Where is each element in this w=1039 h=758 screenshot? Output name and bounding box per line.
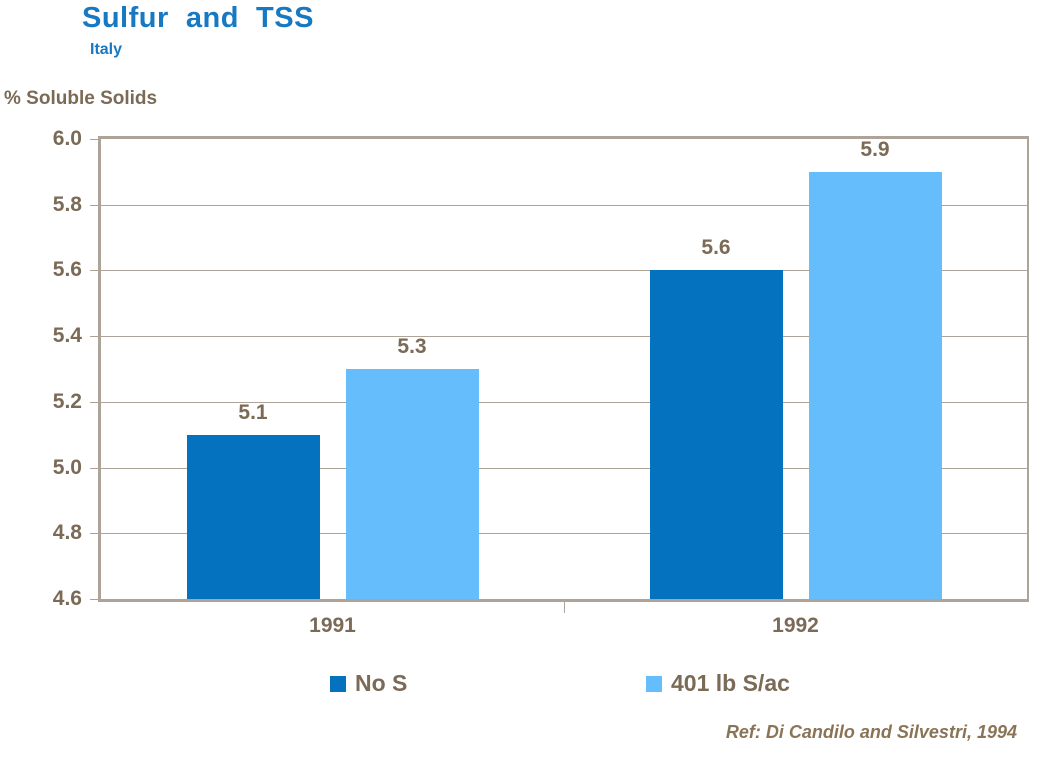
chart-subtitle: Italy	[90, 41, 122, 59]
y-axis-tick-label: 5.4	[12, 324, 82, 348]
x-axis-category-label: 1992	[772, 614, 819, 638]
y-axis-tick-mark	[90, 270, 98, 271]
legend-label-401-lb-s-ac: 401 lb S/ac	[671, 672, 790, 695]
bar-value-label: 5.9	[860, 138, 889, 162]
y-axis-tick-mark	[90, 402, 98, 403]
y-axis-tick-mark	[90, 205, 98, 206]
chart-title: Sulfur and TSS	[82, 2, 314, 35]
bar-value-label: 5.6	[701, 236, 730, 260]
bar[interactable]	[650, 270, 783, 599]
y-axis-tick-label: 5.0	[12, 456, 82, 480]
plot-area	[98, 136, 1029, 602]
x-axis-category-label: 1991	[309, 614, 356, 638]
y-axis-tick-label: 6.0	[12, 127, 82, 151]
y-axis-tick-label: 4.8	[12, 521, 82, 545]
legend-swatch-401-lb-s-ac	[646, 676, 662, 692]
y-axis-tick-label: 4.6	[12, 587, 82, 611]
reference-note: Ref: Di Candilo and Silvestri, 1994	[726, 722, 1017, 743]
legend-swatch-no-s	[330, 676, 346, 692]
y-axis-tick-label: 5.6	[12, 258, 82, 282]
y-axis-tick-label: 5.2	[12, 390, 82, 414]
y-axis-tick-mark	[90, 468, 98, 469]
y-axis-tick-label: 5.8	[12, 193, 82, 217]
legend-item-401-lb-s-ac[interactable]: 401 lb S/ac	[646, 672, 790, 695]
plot-inner	[101, 139, 1027, 599]
y-axis-title: % Soluble Solids	[4, 88, 157, 110]
chart-root: Sulfur and TSS Italy % Soluble Solids 6.…	[0, 0, 1039, 758]
bar[interactable]	[187, 435, 320, 599]
chart-legend: No S 401 lb S/ac	[0, 668, 1039, 702]
y-axis-tick-mark	[90, 599, 98, 600]
legend-item-no-s[interactable]: No S	[330, 672, 407, 695]
bar-value-label: 5.1	[238, 401, 267, 425]
bar[interactable]	[346, 369, 479, 599]
y-axis-tick-mark	[90, 336, 98, 337]
y-axis-tick-mark	[90, 139, 98, 140]
category-separator	[564, 602, 565, 613]
bar[interactable]	[809, 172, 942, 599]
legend-label-no-s: No S	[355, 672, 407, 695]
bar-value-label: 5.3	[397, 335, 426, 359]
y-axis-tick-mark	[90, 533, 98, 534]
